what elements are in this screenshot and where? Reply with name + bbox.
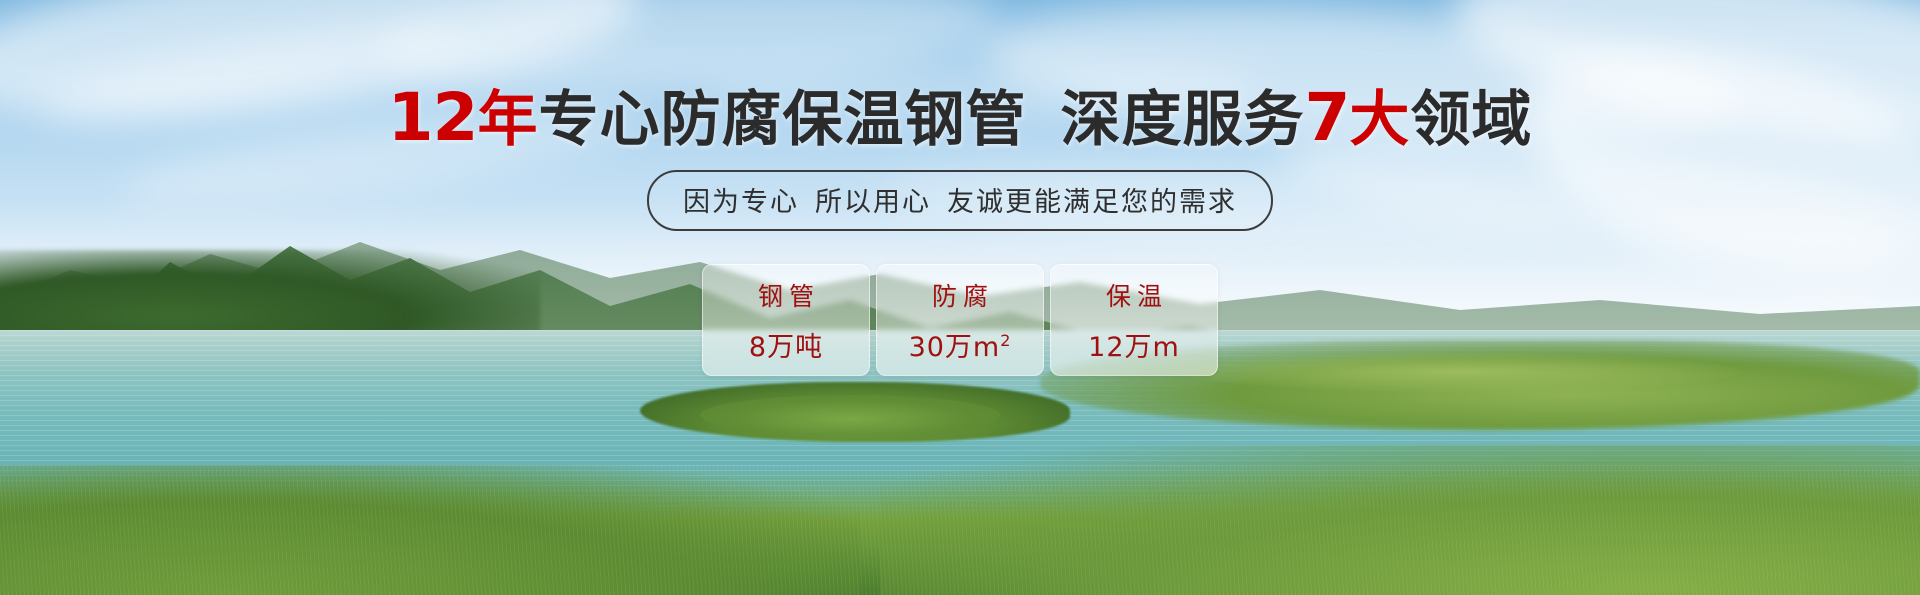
stat-cards: 钢管 8万吨 防腐 30万m2 保温 12万m: [702, 264, 1218, 376]
stat-value-text: 12万m: [1088, 332, 1180, 363]
stat-card-value: 30万m2: [909, 325, 1012, 364]
stat-value-text: 8万吨: [749, 332, 823, 363]
headline-fields-unit: 大: [1349, 85, 1410, 155]
stat-card-label: 防腐: [926, 277, 994, 313]
headline-years-number: 12: [388, 79, 478, 156]
subtitle-part-2: 所以用心: [815, 187, 931, 218]
headline-main-text: 专心防腐保温钢管: [538, 85, 1026, 155]
stat-value-text: 30万m: [909, 332, 1001, 363]
stat-card-insulation: 保温 12万m: [1050, 264, 1218, 376]
headline-years-unit: 年: [477, 85, 538, 155]
stat-card-value: 8万吨: [749, 325, 823, 364]
stat-card-label: 保温: [1100, 277, 1168, 313]
stat-value-superscript: 2: [1000, 331, 1011, 350]
stat-card-steel-pipe: 钢管 8万吨: [702, 264, 870, 376]
subtitle-part-3: 友诚更能满足您的需求: [947, 187, 1237, 218]
stat-card-value: 12万m: [1088, 325, 1180, 364]
stat-card-label: 钢管: [752, 277, 820, 313]
stat-card-anticorrosion: 防腐 30万m2: [876, 264, 1044, 376]
headline-fields-number: 7: [1304, 79, 1349, 156]
headline-fields-text: 领域: [1410, 85, 1532, 155]
banner-content: 12年专心防腐保温钢管深度服务7大领域 因为专心所以用心友诚更能满足您的需求 钢…: [0, 0, 1920, 595]
hero-banner: 12年专心防腐保温钢管深度服务7大领域 因为专心所以用心友诚更能满足您的需求 钢…: [0, 0, 1920, 595]
headline: 12年专心防腐保温钢管深度服务7大领域: [0, 82, 1920, 153]
subtitle-part-1: 因为专心: [683, 187, 799, 218]
headline-service-text: 深度服务: [1060, 85, 1304, 155]
subtitle-pill: 因为专心所以用心友诚更能满足您的需求: [647, 170, 1273, 231]
